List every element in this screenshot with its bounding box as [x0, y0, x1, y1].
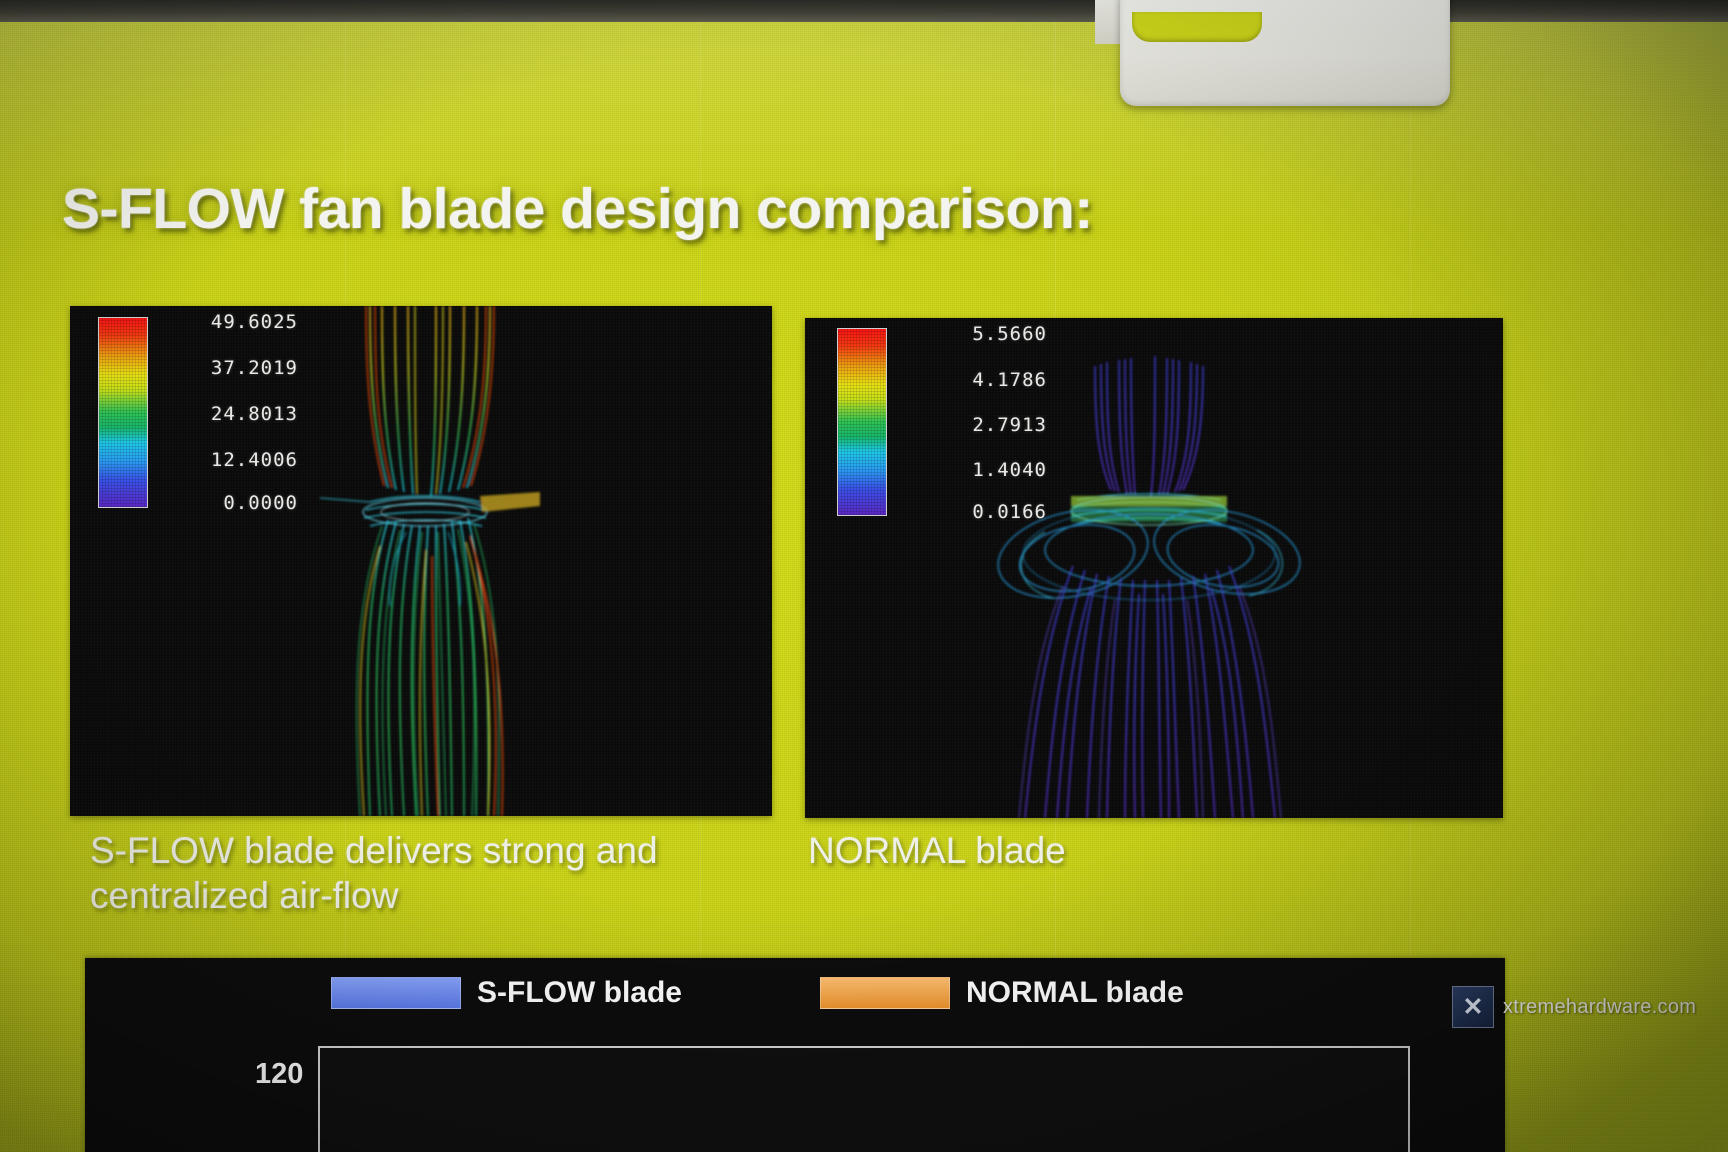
colorbar-sflow — [98, 317, 148, 508]
cfd-panel-normal: 5.5660 4.1786 2.7913 1.4040 0.0166 — [805, 318, 1503, 818]
colorbar-tick: 0.0166 — [972, 501, 1047, 523]
legend-swatch-sflow — [331, 977, 461, 1009]
legend-swatch-normal — [820, 977, 950, 1009]
colorbar-tick: 2.7913 — [972, 414, 1047, 436]
colorbar-tick: 0.0000 — [223, 492, 298, 514]
chart-legend-normal: NORMAL blade — [820, 976, 1184, 1010]
colorbar-tick: 49.6025 — [211, 311, 298, 333]
cfd-panel-sflow: 49.6025 37.2019 24.8013 12.4006 0.0000 — [70, 306, 772, 816]
airflow-chart-panel: S-FLOW blade NORMAL blade 120 — [85, 958, 1505, 1152]
caption-sflow: S-FLOW blade delivers strong and central… — [90, 828, 790, 918]
colorbar-tick: 12.4006 — [211, 449, 298, 471]
colorbar-normal — [837, 328, 887, 516]
chart-y-tick-120: 120 — [255, 1058, 303, 1091]
colorbar-ticks-sflow: 49.6025 37.2019 24.8013 12.4006 0.0000 — [158, 317, 298, 506]
colorbar-tick: 37.2019 — [211, 357, 298, 379]
package-top-edge — [0, 0, 1728, 22]
chart-legend-sflow: S-FLOW blade — [331, 976, 682, 1010]
screenshot-root: S-FLOW fan blade design comparison: — [0, 0, 1728, 1152]
watermark-text: xtremehardware.com — [1503, 996, 1696, 1019]
colorbar-tick: 4.1786 — [972, 369, 1047, 391]
colorbar-tick: 24.8013 — [211, 403, 298, 425]
x-logo-icon: ✕ — [1452, 986, 1494, 1028]
euro-hanging-hook — [1120, 0, 1450, 106]
colorbar-tick: 5.5660 — [972, 323, 1047, 345]
colorbar-dither — [99, 318, 147, 507]
legend-label-sflow: S-FLOW blade — [477, 976, 682, 1010]
page-title: S-FLOW fan blade design comparison: — [62, 176, 1362, 242]
legend-label-normal: NORMAL blade — [966, 976, 1184, 1010]
colorbar-tick: 1.4040 — [972, 459, 1047, 481]
caption-normal: NORMAL blade — [808, 828, 1368, 873]
watermark: ✕ xtremehardware.com — [1452, 986, 1696, 1028]
colorbar-ticks-normal: 5.5660 4.1786 2.7913 1.4040 0.0166 — [897, 328, 1047, 514]
chart-plot-area — [318, 1046, 1410, 1152]
colorbar-dither — [838, 329, 886, 515]
